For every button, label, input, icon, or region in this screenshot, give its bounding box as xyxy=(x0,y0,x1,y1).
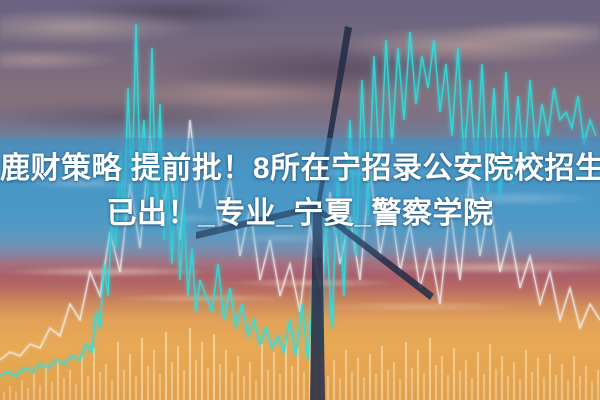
headline-line-1: 鹿财策略 提前批！8所在宁招录公安院校招生简章 xyxy=(0,146,600,191)
watermark: • xyxy=(575,381,578,390)
headline-line-2: 已出！_专业_宁夏_警察学院 xyxy=(0,191,600,236)
page-title: 鹿财策略 提前批！8所在宁招录公安院校招生简章 已出！_专业_宁夏_警察学院 xyxy=(0,146,600,236)
thumbnail-image: 鹿财策略 提前批！8所在宁招录公安院校招生简章 已出！_专业_宁夏_警察学院 • xyxy=(0,0,600,400)
